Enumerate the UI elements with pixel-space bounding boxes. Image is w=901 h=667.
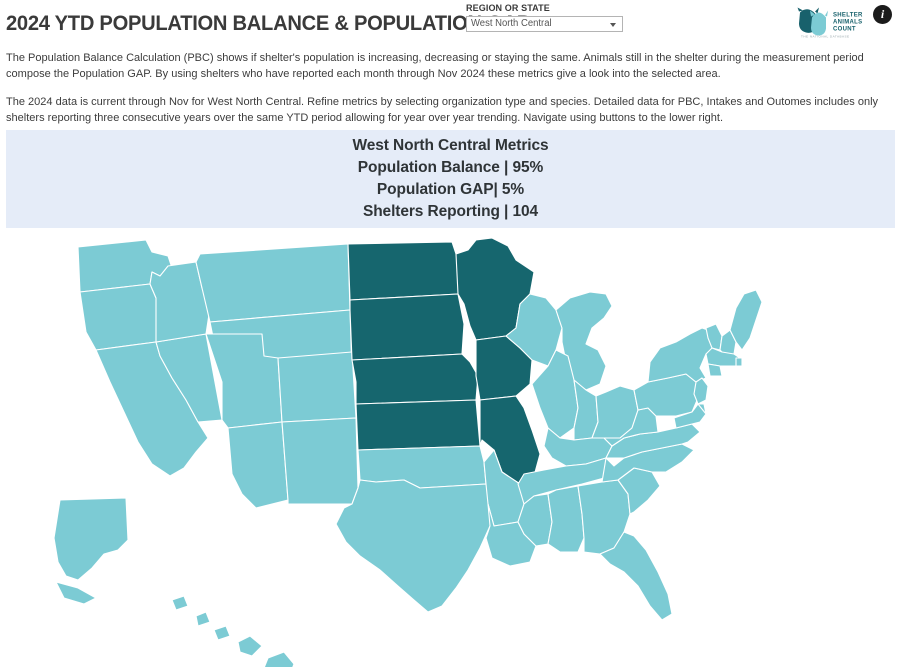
state-alabama[interactable]: Alabama bbox=[548, 486, 584, 552]
chevron-down-icon bbox=[610, 23, 616, 27]
state-new-mexico[interactable]: New Mexico bbox=[282, 418, 358, 504]
region-filter: REGION OR STATE West North Central bbox=[466, 3, 626, 32]
state-south-dakota[interactable]: South Dakota bbox=[350, 294, 464, 360]
metric-population-gap: Population GAP| 5% bbox=[6, 179, 895, 201]
state-arizona[interactable]: Arizona bbox=[228, 422, 288, 508]
info-icon[interactable]: i bbox=[873, 5, 892, 24]
state-nebraska[interactable]: Nebraska bbox=[352, 354, 478, 404]
state-texas[interactable]: Texas bbox=[336, 480, 492, 612]
svg-text:THE NATIONAL DATABASE: THE NATIONAL DATABASE bbox=[801, 35, 850, 39]
intro-paragraph-1: The Population Balance Calculation (PBC)… bbox=[6, 50, 883, 82]
state-hawaii[interactable]: Hawaii bbox=[172, 596, 294, 667]
state-north-dakota[interactable]: North Dakota bbox=[348, 242, 462, 300]
state-montana[interactable]: Montana bbox=[196, 244, 350, 322]
state-oregon[interactable]: Oregon bbox=[80, 284, 166, 350]
state-rhode-island[interactable]: Rhode Island bbox=[736, 358, 742, 366]
intro-text: The Population Balance Calculation (PBC)… bbox=[6, 50, 896, 138]
region-select[interactable]: West North Central bbox=[466, 16, 623, 32]
state-connecticut[interactable]: Connecticut bbox=[708, 364, 722, 376]
dashboard-page: 2024 YTD POPULATION BALANCE & POPULATION… bbox=[0, 0, 901, 667]
cat-silhouette bbox=[810, 11, 828, 36]
state-colorado[interactable]: Colorado bbox=[278, 352, 356, 422]
state-kansas[interactable]: Kansas bbox=[356, 400, 480, 450]
state-alaska[interactable]: Alaska bbox=[54, 498, 128, 604]
region-select-value: West North Central bbox=[471, 18, 552, 29]
state-new-jersey[interactable]: New Jersey bbox=[694, 378, 708, 404]
metric-shelters-reporting: Shelters Reporting | 104 bbox=[6, 201, 895, 223]
svg-text:ANIMALS: ANIMALS bbox=[833, 20, 862, 26]
metrics-panel: West North Central Metrics Population Ba… bbox=[6, 130, 895, 228]
metric-population-balance: Population Balance | 95% bbox=[6, 157, 895, 179]
intro-paragraph-2: The 2024 data is current through Nov for… bbox=[6, 94, 883, 126]
us-choropleth-map[interactable]: WashingtonOregonCaliforniaNevadaIdahoMon… bbox=[0, 232, 901, 667]
svg-text:SHELTER: SHELTER bbox=[833, 13, 863, 19]
page-header: 2024 YTD POPULATION BALANCE & POPULATION… bbox=[0, 0, 901, 46]
metrics-heading: West North Central Metrics bbox=[6, 135, 895, 157]
svg-text:COUNT: COUNT bbox=[833, 27, 856, 33]
region-filter-label: REGION OR STATE bbox=[466, 3, 618, 14]
page-title: 2024 YTD POPULATION BALANCE & POPULATION… bbox=[6, 12, 530, 36]
shelter-animals-count-logo: SHELTER ANIMALS COUNT THE NATIONAL DATAB… bbox=[797, 6, 867, 40]
